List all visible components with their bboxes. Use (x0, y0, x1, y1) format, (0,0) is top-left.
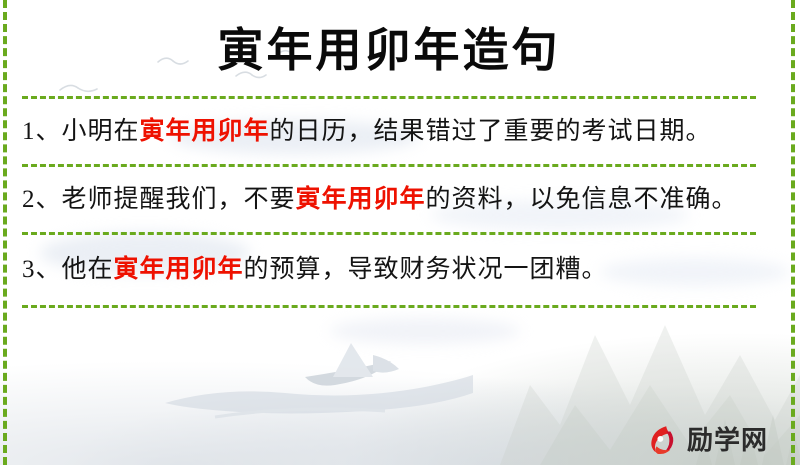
divider-bottom (22, 305, 756, 308)
highlighted-phrase: 寅年用卯年 (296, 186, 426, 213)
flame-swoosh-icon (646, 423, 680, 457)
page-title: 寅年用卯年造句 (22, 0, 756, 80)
logo-text: 励学网 (687, 427, 768, 453)
content-area: 寅年用卯年造句 1、小明在寅年用卯年的日历，结果错过了重要的考试日期。 2、老师… (0, 0, 800, 465)
sentence-part: 他在 (62, 256, 114, 283)
sentence-part: 小明在 (62, 118, 140, 145)
highlighted-phrase: 寅年用卯年 (140, 118, 270, 145)
sentence-item-1: 1、小明在寅年用卯年的日历，结果错过了重要的考试日期。 (22, 99, 756, 165)
sentence-index: 3、 (22, 256, 62, 283)
sentence-item-2: 2、老师提醒我们，不要寅年用卯年的资料，以免信息不准确。 (22, 167, 756, 232)
right-dashed-border (791, 0, 795, 465)
sentence-item-3: 3、他在寅年用卯年的预算，导致财务状况一团糟。 (22, 235, 756, 306)
sentence-index: 2、 (22, 186, 62, 213)
site-watermark-logo: 励学网 (646, 423, 768, 457)
sentence-part: 的日历，结果错过了重要的考试日期。 (270, 118, 712, 145)
sentence-index: 1、 (22, 118, 62, 145)
sentence-part: 的预算，导致财务状况一团糟。 (244, 256, 608, 283)
worksheet-page: 寅年用卯年造句 1、小明在寅年用卯年的日历，结果错过了重要的考试日期。 2、老师… (0, 0, 800, 465)
sentence-part: 老师提醒我们，不要 (62, 186, 296, 213)
highlighted-phrase: 寅年用卯年 (114, 256, 244, 283)
sentence-part: 的资料，以免信息不准确。 (426, 186, 738, 213)
left-dashed-border (3, 0, 7, 465)
